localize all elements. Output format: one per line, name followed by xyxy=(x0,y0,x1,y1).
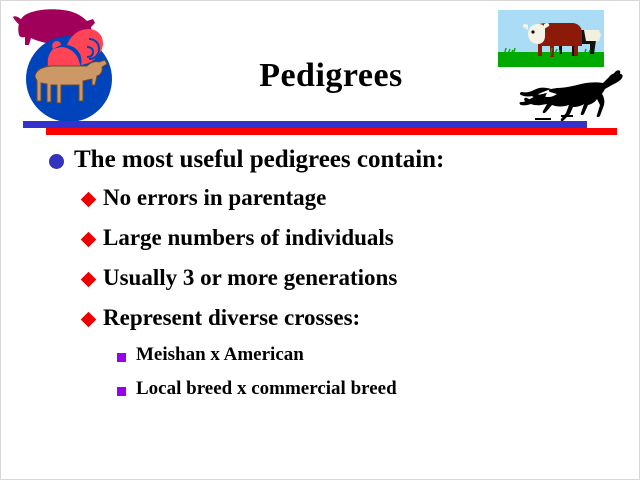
divider-bar-blue xyxy=(23,121,587,128)
divider-bar-red xyxy=(46,128,617,135)
list-item-level3: Local breed x commercial breed xyxy=(1,375,640,409)
list-item-level2: No errors in parentage xyxy=(1,181,640,221)
horse-body xyxy=(520,70,623,121)
livestock-logo-svg xyxy=(9,5,129,125)
livestock-logo xyxy=(9,5,129,125)
list-item-label: Large numbers of individuals xyxy=(103,221,394,254)
square-bullet-icon xyxy=(117,387,126,396)
list-item-level2: Usually 3 or more generations xyxy=(1,261,640,301)
diamond-bullet-icon xyxy=(81,232,97,248)
slide-title: Pedigrees xyxy=(141,59,521,93)
list-item-label: No errors in parentage xyxy=(103,181,326,214)
list-item-level2: Represent diverse crosses: xyxy=(1,301,640,341)
list-item-label: Represent diverse crosses: xyxy=(103,301,360,334)
list-item-label: Local breed x commercial breed xyxy=(136,375,397,403)
slide-canvas: Pedigrees xyxy=(0,0,640,480)
diamond-bullet-icon xyxy=(81,312,97,328)
list-item-label: Usually 3 or more generations xyxy=(103,261,397,294)
list-item-label: The most useful pedigrees contain: xyxy=(74,143,444,177)
list-item-level3: Meishan x American xyxy=(1,341,640,375)
cattle-pasture-photo xyxy=(498,10,604,67)
list-item-level1: The most useful pedigrees contain: xyxy=(1,143,640,181)
list-item-level2: Large numbers of individuals xyxy=(1,221,640,261)
list-item-label: Meishan x American xyxy=(136,341,304,369)
square-bullet-icon xyxy=(117,353,126,362)
diamond-bullet-icon xyxy=(81,192,97,208)
bullet-list: The most useful pedigrees contain: No er… xyxy=(1,143,640,409)
galloping-horse-silhouette xyxy=(517,69,627,127)
circle-bullet-icon xyxy=(49,154,64,169)
horse-svg xyxy=(517,69,627,127)
cattle-photo-svg xyxy=(498,10,604,67)
diamond-bullet-icon xyxy=(81,272,97,288)
